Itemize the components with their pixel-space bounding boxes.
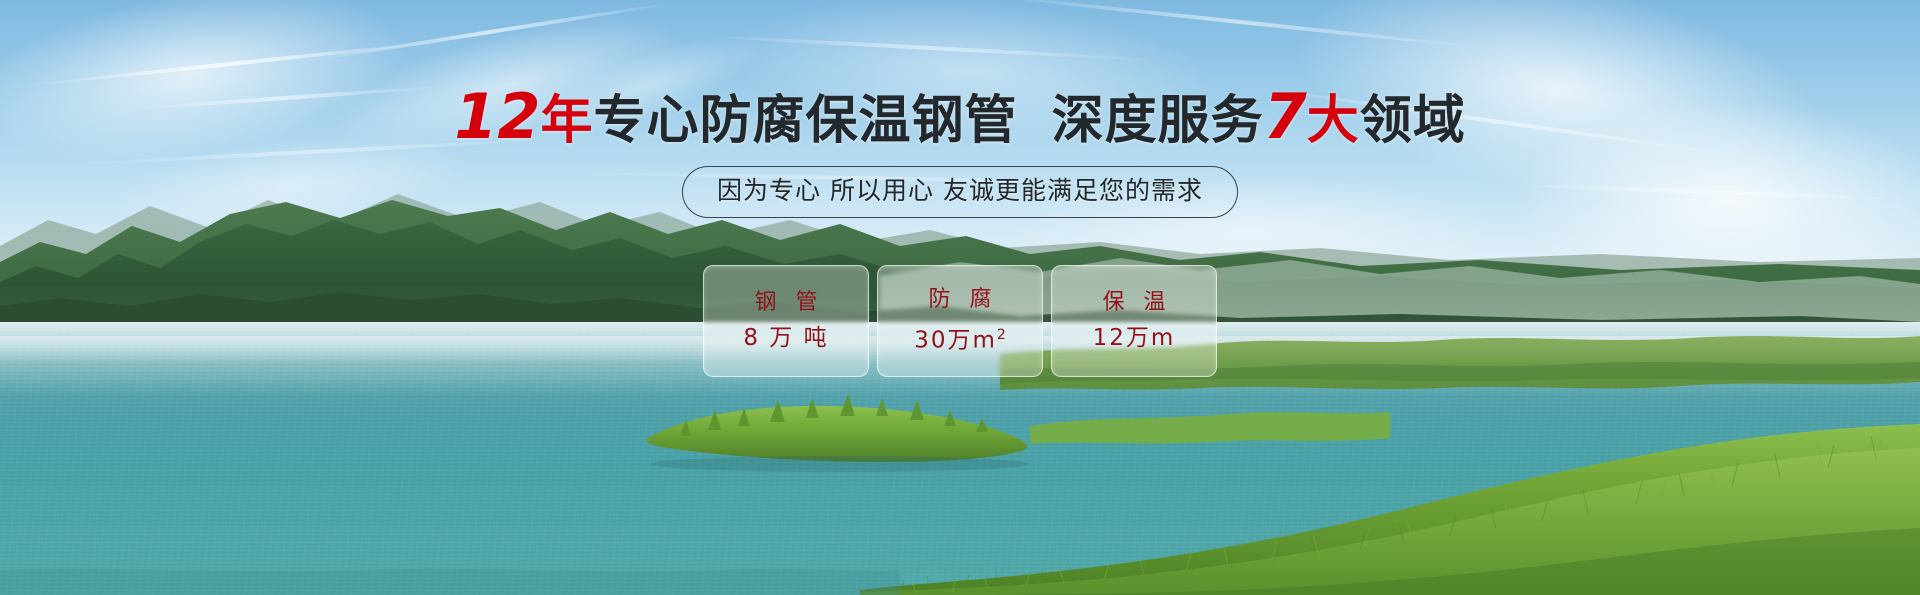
promo-banner: 12年专心防腐保温钢管深度服务7大领域 因为专心 所以用心 友诚更能满足您的需求… [0,0,1920,595]
headline: 12年专心防腐保温钢管深度服务7大领域 [0,88,1920,150]
headline-fields-tail: 领域 [1360,91,1466,151]
headline-service-text: 深度服务 [1052,91,1264,151]
stat-value: 8 万 吨 [743,325,828,351]
text-overlay: 12年专心防腐保温钢管深度服务7大领域 因为专心 所以用心 友诚更能满足您的需求… [0,0,1920,595]
subtitle-container: 因为专心 所以用心 友诚更能满足您的需求 [0,166,1920,218]
headline-years-number: 12 [454,80,540,153]
stat-title: 保 温 [1097,291,1172,315]
headline-fields-number: 7 [1264,80,1307,153]
stat-value-text: 12万m [1093,325,1176,351]
headline-main-text: 专心防腐保温钢管 [594,91,1018,151]
stat-card-steel-pipe: 钢 管 8 万 吨 [703,265,869,377]
headline-years-unit: 年 [541,91,594,151]
stat-card-insulation: 保 温 12万m [1051,265,1217,377]
stat-value: 12万m [1093,325,1176,351]
headline-fields-unit: 大 [1307,91,1360,151]
stat-title: 防 腐 [923,288,998,312]
stat-card-anticorrosion: 防 腐 30万m2 [877,265,1043,377]
subtitle-pill: 因为专心 所以用心 友诚更能满足您的需求 [682,166,1238,218]
stat-title: 钢 管 [749,291,824,315]
stats-row: 钢 管 8 万 吨 防 腐 30万m2 保 温 12万m [0,265,1920,377]
stat-value: 30万m2 [914,322,1006,354]
stat-value-superscript: 2 [997,327,1006,343]
stat-value-text: 8 万 吨 [743,325,828,351]
stat-value-text: 30万m [914,328,997,354]
